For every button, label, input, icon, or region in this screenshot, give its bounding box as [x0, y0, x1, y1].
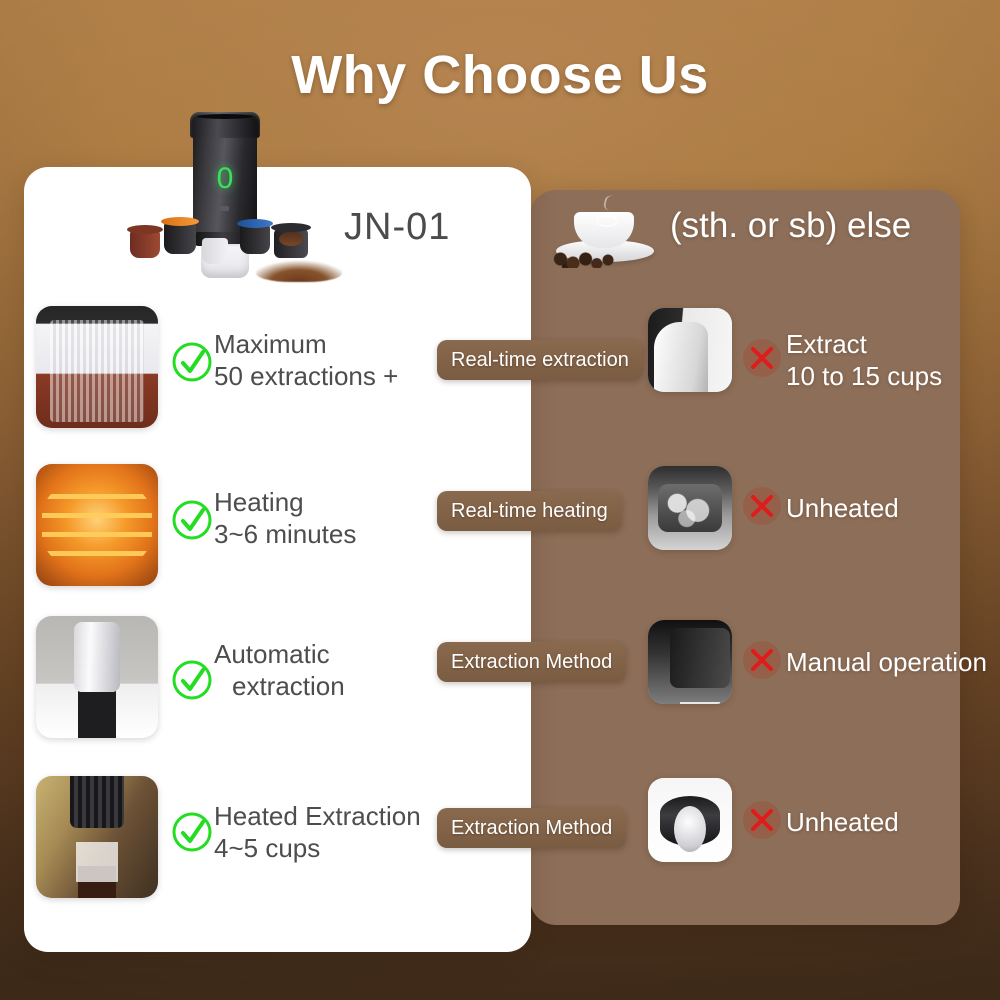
feature-pill: Extraction Method — [437, 808, 626, 848]
cross-circle-icon — [740, 336, 784, 380]
pro-text-line1: Heating — [214, 486, 304, 519]
comparison-row: Heating 3~6 minutes Real-time heating Un… — [0, 458, 1000, 608]
machine-display-value: 0 — [189, 162, 261, 196]
feature-pill: Real-time extraction — [437, 340, 643, 380]
comparison-row: Heated Extraction 4~5 cups Extraction Me… — [0, 770, 1000, 920]
pro-thumbnail — [36, 464, 158, 586]
cross-circle-icon — [740, 638, 784, 682]
check-circle-icon — [170, 498, 214, 542]
pro-thumbnail — [36, 776, 158, 898]
page-title: Why Choose Us — [0, 44, 1000, 106]
pro-text-line1: Automatic — [214, 638, 330, 671]
coffee-cup-icon — [552, 200, 658, 266]
product-hero-image: 0 — [24, 100, 531, 275]
check-circle-icon — [170, 810, 214, 854]
con-text-line1: Unheated — [786, 806, 899, 839]
con-thumbnail — [648, 620, 732, 704]
infographic-canvas: Why Choose Us 0 JN-01 — [0, 0, 1000, 1000]
pro-text-line2: 4~5 cups — [214, 832, 320, 865]
coffee-beans-icon — [552, 248, 622, 268]
pro-text-line2: 50 extractions + — [214, 360, 398, 393]
con-text-line2: 10 to 15 cups — [786, 360, 942, 393]
con-text-line1: Extract — [786, 328, 867, 361]
con-thumbnail — [648, 466, 732, 550]
check-circle-icon — [170, 658, 214, 702]
coffee-capsules-icon — [24, 216, 314, 276]
pro-text-line2: extraction — [232, 670, 345, 703]
competitor-label: (sth. or sb) else — [670, 206, 911, 246]
pro-text-line1: Maximum — [214, 328, 327, 361]
pro-text-line2: 3~6 minutes — [214, 518, 356, 551]
pro-text-line1: Heated Extraction — [214, 800, 421, 833]
cross-circle-icon — [740, 484, 784, 528]
feature-pill: Extraction Method — [437, 642, 626, 682]
coffee-grounds-icon — [256, 260, 342, 282]
con-thumbnail — [648, 778, 732, 862]
con-text-line1: Unheated — [786, 492, 899, 525]
comparison-row: Maximum 50 extractions + Real-time extra… — [0, 300, 1000, 450]
competitor-header: (sth. or sb) else — [552, 196, 952, 271]
pro-thumbnail — [36, 616, 158, 738]
con-thumbnail — [648, 308, 732, 392]
feature-pill: Real-time heating — [437, 491, 622, 531]
comparison-row: Automatic extraction Extraction Method M… — [0, 610, 1000, 760]
pro-thumbnail — [36, 306, 158, 428]
product-name: JN-01 — [344, 206, 450, 249]
check-circle-icon — [170, 340, 214, 384]
cross-circle-icon — [740, 798, 784, 842]
con-text-line1: Manual operation — [786, 646, 987, 679]
